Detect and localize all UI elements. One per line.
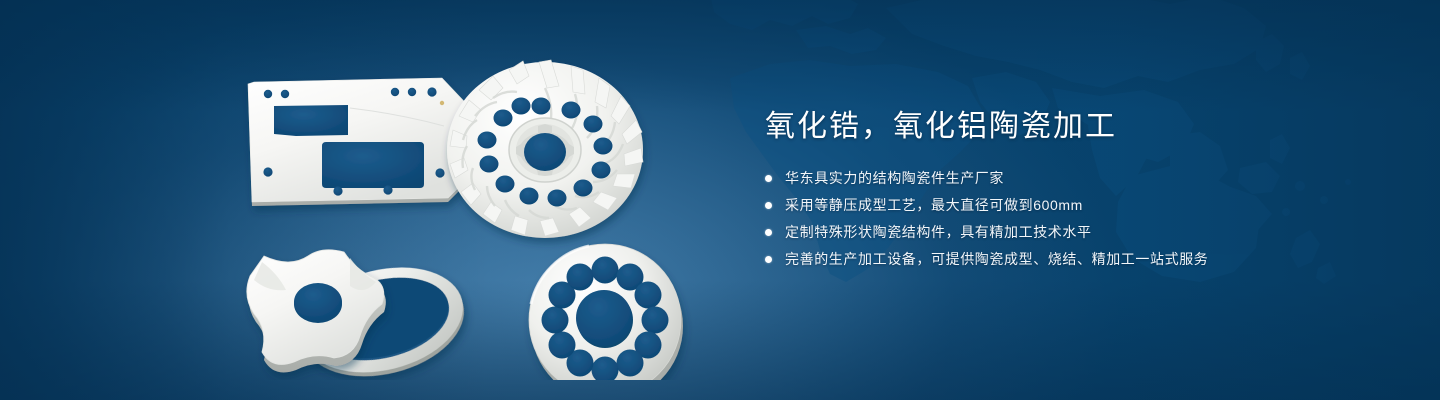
- bullet-dot-icon: [765, 229, 772, 236]
- list-item: 采用等静压成型工艺，最大直径可做到600mm: [765, 195, 1385, 216]
- feature-bullet-list: 华东具实力的结构陶瓷件生产厂家 采用等静压成型工艺，最大直径可做到600mm 定…: [765, 168, 1385, 270]
- ceramic-products-photo-group: [230, 30, 730, 380]
- bullet-text: 完善的生产加工设备，可提供陶瓷成型、烧结、精加工一站式服务: [785, 249, 1208, 270]
- ceramic-plate-with-cutouts: [248, 78, 476, 206]
- bullet-dot-icon: [765, 202, 772, 209]
- bullet-text: 定制特殊形状陶瓷结构件，具有精加工技术水平: [785, 222, 1092, 243]
- bullet-dot-icon: [765, 175, 772, 182]
- bullet-text: 华东具实力的结构陶瓷件生产厂家: [785, 168, 1004, 189]
- bullet-dot-icon: [765, 256, 772, 263]
- list-item: 完善的生产加工设备，可提供陶瓷成型、烧结、精加工一站式服务: [765, 249, 1385, 270]
- list-item: 华东具实力的结构陶瓷件生产厂家: [765, 168, 1385, 189]
- ceramic-processing-banner: 氧化锆，氧化铝陶瓷加工 华东具实力的结构陶瓷件生产厂家 采用等静压成型工艺，最大…: [0, 0, 1440, 400]
- banner-text-block: 氧化锆，氧化铝陶瓷加工 华东具实力的结构陶瓷件生产厂家 采用等静压成型工艺，最大…: [765, 108, 1385, 276]
- ceramic-impeller-disc: [447, 60, 643, 238]
- ceramic-perforated-disc: [529, 244, 683, 380]
- page-title: 氧化锆，氧化铝陶瓷加工: [765, 108, 1385, 146]
- list-item: 定制特殊形状陶瓷结构件，具有精加工技术水平: [765, 222, 1385, 243]
- bullet-text: 采用等静压成型工艺，最大直径可做到600mm: [785, 195, 1083, 216]
